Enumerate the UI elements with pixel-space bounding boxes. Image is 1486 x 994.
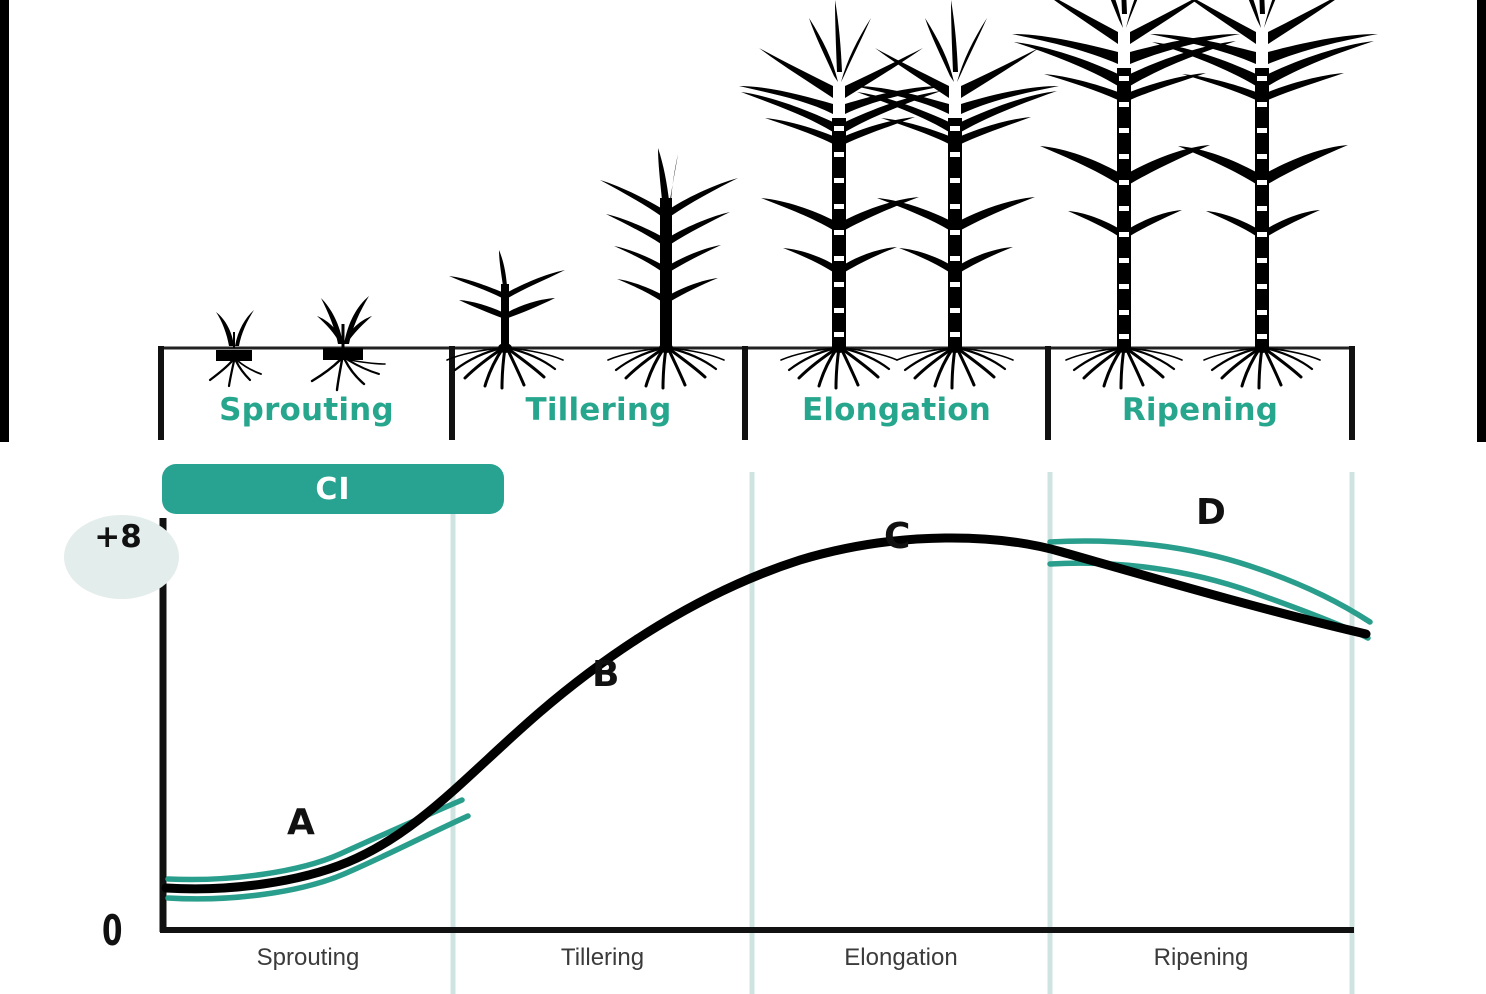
stage-illustration	[0, 0, 1486, 442]
curve-label-d: D	[1196, 492, 1226, 533]
curve-label-b: B	[592, 654, 619, 695]
growth-stage-panel: Sprouting Tillering Elongation Ripening	[0, 0, 1486, 442]
curve-label-a: A	[287, 802, 315, 843]
chart-plot-area	[0, 442, 1486, 994]
stage-label-tillering: Tillering	[452, 392, 745, 428]
x-tick-label-ripening: Ripening	[1050, 944, 1352, 972]
stage-label-ripening: Ripening	[1048, 392, 1352, 428]
plant-elongation-2	[855, 0, 1059, 388]
growth-curve	[166, 538, 1366, 889]
y-axis-top-label: +8	[92, 521, 144, 553]
y-axis-zero-label: 0	[102, 906, 123, 955]
x-tick-label-sprouting: Sprouting	[163, 944, 453, 972]
curve-label-c: C	[884, 516, 910, 557]
plant-sprouting-2	[312, 296, 385, 390]
plant-elongation-1	[739, 0, 943, 388]
growth-curve-chart: CI +8 0 A B C D Sprouting Tillering Elon…	[0, 442, 1486, 994]
stage-label-sprouting: Sprouting	[161, 392, 452, 428]
plant-tillering-1	[447, 250, 565, 388]
figure-root: Sprouting Tillering Elongation Ripening …	[0, 0, 1486, 994]
plant-tillering-2	[600, 148, 738, 388]
ci-badge: CI	[162, 464, 504, 514]
x-tick-label-elongation: Elongation	[752, 944, 1050, 972]
x-tick-label-tillering: Tillering	[453, 944, 752, 972]
stage-label-elongation: Elongation	[745, 392, 1048, 428]
